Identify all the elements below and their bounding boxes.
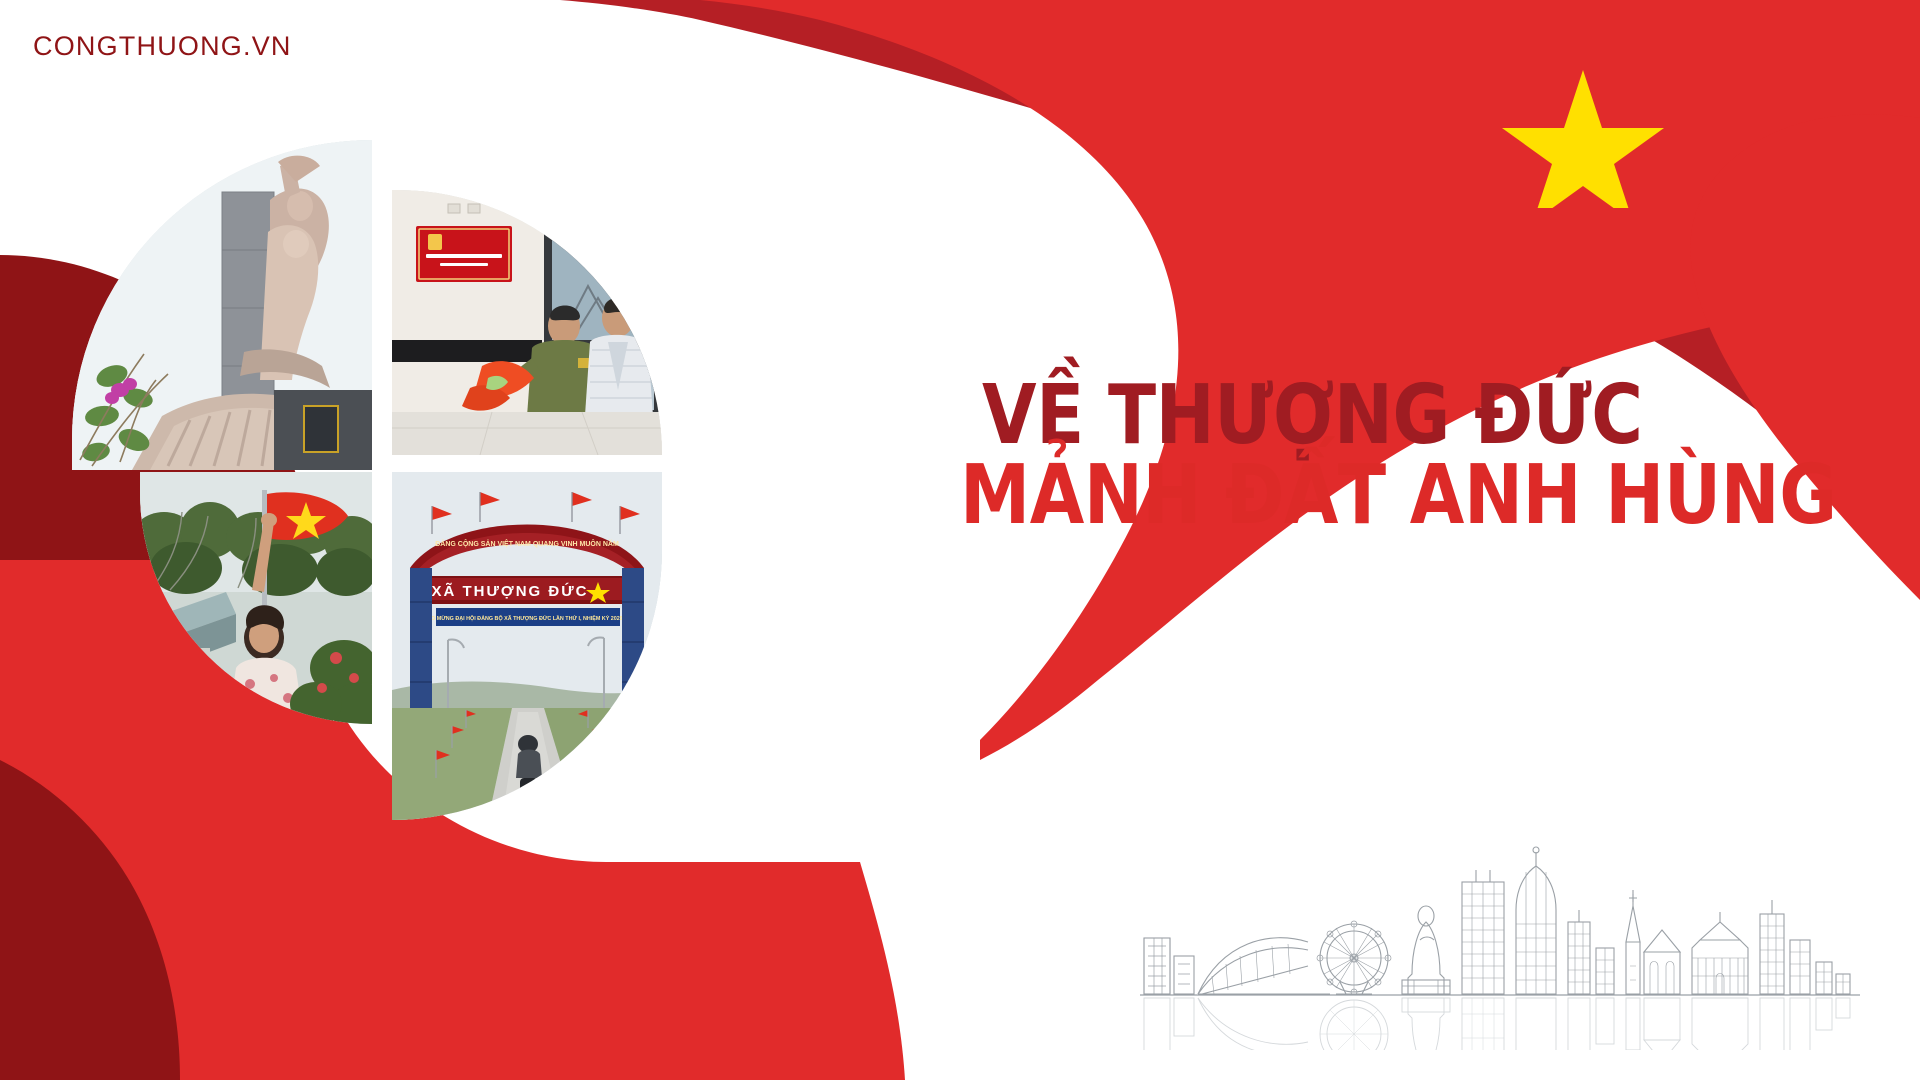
photo-plaque[interactable] (392, 190, 662, 455)
svg-text:XÃ THƯỢNG ĐỨC: XÃ THƯỢNG ĐỨC (431, 582, 588, 600)
headline-line-2: MẢNH ĐẤT ANH HÙNG (960, 458, 1786, 534)
skyline-illustration (1140, 790, 1860, 1050)
headline-block: VỀ THƯỢNG ĐỨC MẢNH ĐẤT ANH HÙNG (960, 378, 1920, 535)
photo-monument[interactable] (72, 140, 372, 470)
yellow-star-icon (1502, 70, 1664, 208)
flag-star-group (1498, 58, 1668, 208)
photo-collage: ĐẢNG CỘNG SẢN VIỆT NAM QUANG VINH MUÔN N… (0, 0, 840, 1080)
headline-line-1: VỀ THƯỢNG ĐỨC (982, 378, 1789, 454)
photo-flag[interactable] (140, 472, 372, 724)
photo-gate[interactable]: ĐẢNG CỘNG SẢN VIỆT NAM QUANG VINH MUÔN N… (392, 472, 662, 820)
poster-canvas: CONGTHUONG.VN (0, 0, 1920, 1080)
svg-text:ĐẢNG CỘNG SẢN VIỆT NAM QUANG V: ĐẢNG CỘNG SẢN VIỆT NAM QUANG VINH MUÔN N… (435, 539, 619, 548)
svg-text:CHÀO MỪNG ĐẠI HỘI ĐẢNG BỘ XÃ T: CHÀO MỪNG ĐẠI HỘI ĐẢNG BỘ XÃ THƯỢNG ĐỨC … (419, 614, 636, 622)
